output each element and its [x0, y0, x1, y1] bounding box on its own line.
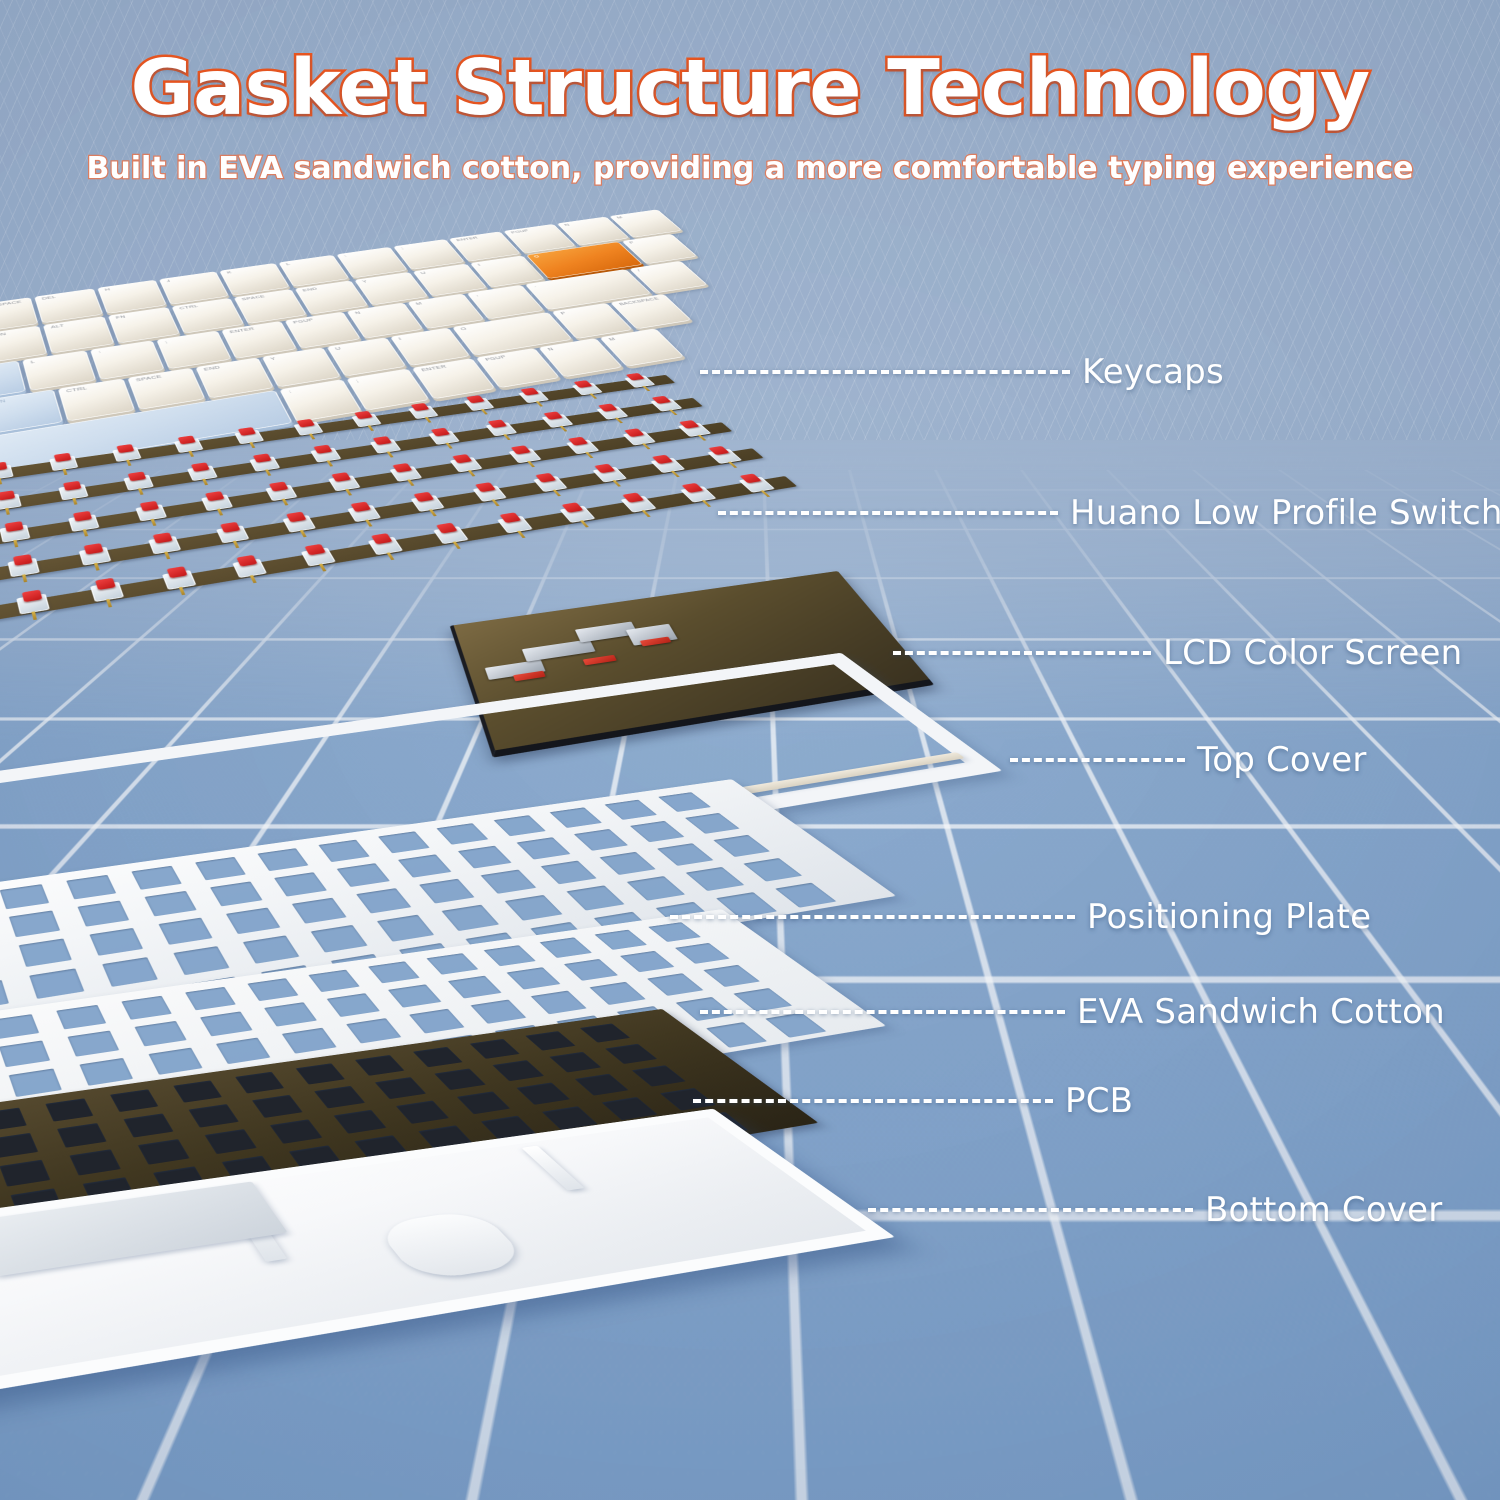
- plate-hole: [703, 965, 760, 987]
- plate-hole: [355, 1055, 405, 1076]
- low-profile-switch: [370, 439, 402, 454]
- keycap-legend: PGUP: [292, 318, 314, 324]
- low-profile-switch: [49, 456, 78, 471]
- low-profile-switch: [234, 430, 264, 444]
- callout-label: Huano Low Profile Switch: [1070, 493, 1500, 533]
- plate-hole: [296, 1063, 345, 1084]
- low-profile-switch: [622, 431, 656, 445]
- low-profile-switch: [533, 476, 568, 492]
- plate-hole: [484, 945, 536, 966]
- low-profile-switch: [541, 414, 573, 428]
- plate-hole: [564, 959, 618, 981]
- low-profile-switch: [566, 440, 599, 455]
- low-profile-switch: [464, 398, 495, 411]
- keycap-legend: Y: [362, 280, 369, 284]
- low-profile-switch: [592, 467, 627, 483]
- plate-hole: [470, 1039, 520, 1059]
- keycap-legend: N: [354, 311, 361, 315]
- keycap-legend: K: [226, 271, 232, 275]
- low-profile-switch: [572, 383, 603, 396]
- layer-bottom-cover: [0, 1090, 1060, 1500]
- plate-hole: [541, 861, 597, 885]
- plate-hole: [66, 875, 116, 900]
- keycap-legend: N: [564, 224, 571, 227]
- header: Gasket Structure Technology Built in EVA…: [0, 0, 1500, 186]
- callout-switch: Huano Low Profile Switch: [718, 493, 1500, 533]
- callout-keycaps: Keycaps: [700, 352, 1224, 392]
- keycap: ;: [393, 239, 465, 270]
- plate-hole: [436, 823, 488, 845]
- callout-label: Top Cover: [1197, 740, 1367, 780]
- plate-hole: [131, 866, 181, 890]
- keycap-grid: YUIOPBACKSPACEDELHJKL:;ENTERPGUPNM,./SHI…: [0, 190, 794, 354]
- plate-hole: [604, 800, 657, 820]
- keycap: O: [526, 242, 643, 279]
- plate-hole: [620, 951, 675, 972]
- plate-hole: [605, 1044, 657, 1064]
- keycap: M: [407, 294, 484, 329]
- plate-hole: [506, 967, 560, 989]
- keycap: N: [557, 217, 630, 246]
- keycap: SPACE: [234, 289, 307, 324]
- plate-hole: [458, 846, 512, 869]
- keycap: M: [609, 209, 682, 237]
- keycap: Y: [354, 272, 428, 305]
- callout-eva: EVA Sandwich Cotton: [700, 992, 1445, 1032]
- keycap-legend: ,: [474, 294, 479, 297]
- plate-hole: [675, 943, 730, 964]
- low-profile-switch: [428, 430, 460, 444]
- low-profile-switch: [249, 456, 280, 471]
- callout-leader-line: [700, 370, 1070, 374]
- keycap: :: [336, 247, 408, 278]
- plate-hole: [318, 840, 370, 862]
- plate-hole: [368, 961, 420, 983]
- low-profile-switch: [650, 458, 685, 473]
- low-profile-switch: [678, 423, 712, 437]
- keycap-legend: ALT: [50, 324, 64, 329]
- plate-hole: [434, 1068, 486, 1090]
- callout-top-cover: Top Cover: [1010, 740, 1367, 780]
- low-profile-switch: [624, 375, 655, 387]
- keycap-legend: H: [105, 288, 111, 292]
- callout-bottom-cover: Bottom Cover: [868, 1190, 1442, 1230]
- low-profile-switch: [408, 406, 439, 419]
- keycap-legend: CTRL: [179, 305, 199, 311]
- plate-hole: [594, 930, 647, 950]
- low-profile-switch: [187, 465, 218, 481]
- callout-leader-line: [718, 511, 1058, 515]
- bottom-cover-post: [222, 1192, 287, 1262]
- keycap: I: [470, 255, 545, 287]
- keycap: BACKSPACE: [0, 297, 38, 333]
- keycap: /: [629, 261, 708, 293]
- low-profile-switch: [351, 414, 381, 428]
- plate-hole: [686, 867, 745, 891]
- low-profile-switch: [293, 422, 323, 436]
- callout-leader-line: [670, 915, 1075, 919]
- low-profile-switch: [450, 457, 483, 472]
- keycap-legend: ;: [400, 247, 404, 250]
- keycap-legend: DEL: [42, 296, 57, 301]
- plate-hole: [308, 970, 360, 992]
- low-profile-switch: [0, 465, 14, 481]
- callout-label: PCB: [1065, 1081, 1133, 1121]
- bottom-cover-post: [521, 1146, 584, 1191]
- keycap: ENTER: [449, 231, 521, 261]
- callout-label: Keycaps: [1082, 352, 1224, 392]
- page-title: Gasket Structure Technology: [0, 44, 1500, 133]
- plate-hole: [599, 852, 656, 875]
- keycap-legend: M: [616, 216, 624, 219]
- callout-label: Bottom Cover: [1205, 1190, 1442, 1230]
- plate-hole: [525, 1031, 575, 1051]
- plate-hole: [550, 807, 603, 828]
- plate-hole: [398, 854, 452, 877]
- keycap: PGUP: [503, 224, 576, 253]
- keycap-legend: P: [629, 241, 636, 244]
- keycap: BACKSPACE: [610, 294, 692, 329]
- keycap-legend: M: [415, 302, 423, 306]
- low-profile-switch: [485, 422, 517, 436]
- keycap-legend: O: [460, 327, 468, 331]
- keycap-legend: :: [344, 255, 348, 258]
- plate-hole: [574, 829, 628, 851]
- callout-leader-line: [868, 1208, 1193, 1212]
- low-profile-switch: [707, 449, 742, 464]
- keycap-legend: END: [302, 287, 318, 292]
- callout-label: Positioning Plate: [1087, 897, 1371, 937]
- bottom-cover-shell: [0, 1109, 895, 1476]
- low-profile-switch: [508, 448, 541, 463]
- low-profile-switch: [650, 398, 682, 411]
- callout-leader-line: [893, 651, 1151, 655]
- keycap-legend: P: [560, 312, 567, 316]
- plate-hole: [658, 792, 711, 812]
- plate-hole: [247, 978, 298, 1001]
- keycap: .: [525, 269, 652, 310]
- keycap-legend: I: [477, 264, 481, 267]
- low-profile-switch: [112, 447, 141, 462]
- keycap: ,: [467, 285, 545, 319]
- keycap-legend: U: [420, 272, 427, 276]
- keycap-legend: /: [637, 269, 642, 272]
- keycap: END: [295, 280, 369, 314]
- low-profile-switch: [174, 438, 204, 453]
- keycap-legend: BACKSPACE: [618, 297, 660, 306]
- plate-hole: [195, 857, 246, 880]
- plate-hole: [632, 1065, 686, 1086]
- plate-hole: [413, 1047, 463, 1067]
- plate-hole: [647, 973, 704, 996]
- keycap-legend: PGDN: [0, 332, 7, 339]
- plate-hole: [657, 843, 714, 866]
- keycap: H: [97, 280, 167, 314]
- plate-hole: [580, 1023, 631, 1042]
- keycap: CTRL: [171, 298, 244, 334]
- low-profile-switch: [123, 475, 153, 491]
- low-profile-switch: [328, 475, 361, 491]
- plate-hole: [713, 835, 770, 857]
- keycap: L: [278, 255, 349, 287]
- switch-grid: [0, 350, 794, 514]
- plate-hole: [480, 870, 536, 894]
- keycap-legend: ENTER: [229, 327, 255, 334]
- plate-hole: [426, 953, 478, 975]
- plate-hole: [516, 837, 570, 859]
- callout-label: LCD Color Screen: [1163, 633, 1462, 673]
- keycap-legend: O: [533, 255, 541, 259]
- plate-hole: [274, 872, 327, 896]
- keycap-legend: FN: [115, 315, 126, 320]
- keycap-legend: J: [166, 280, 171, 283]
- page-subtitle: Built in EVA sandwich cotton, providing …: [0, 151, 1500, 186]
- plate-hole: [492, 1060, 544, 1081]
- callout-pcb: PCB: [693, 1081, 1133, 1121]
- plate-hole: [743, 858, 802, 882]
- keycap-legend: .: [533, 285, 538, 288]
- callout-leader-line: [700, 1010, 1065, 1014]
- infographic-stage: Gasket Structure Technology Built in EVA…: [0, 0, 1500, 1500]
- callout-leader-line: [693, 1099, 1053, 1103]
- keycap: DEL: [34, 288, 103, 323]
- keycap-legend: L: [286, 263, 292, 266]
- keycap-legend: ENTER: [456, 236, 479, 242]
- callout-label: EVA Sandwich Cotton: [1077, 992, 1445, 1032]
- callout-lcd: LCD Color Screen: [893, 633, 1462, 673]
- keycap-legend: BACKSPACE: [0, 300, 22, 309]
- low-profile-switch: [310, 448, 341, 463]
- callout-positioning: Positioning Plate: [670, 897, 1371, 937]
- keycap: J: [159, 271, 229, 304]
- keycap: K: [219, 263, 290, 296]
- keycap-legend: SPACE: [241, 295, 266, 301]
- keycap: U: [413, 264, 488, 297]
- plate-hole: [257, 848, 308, 871]
- plate-hole: [540, 937, 593, 958]
- plate-hole: [549, 1052, 601, 1073]
- plate-hole: [630, 821, 685, 842]
- plate-hole: [494, 815, 546, 836]
- plate-hole: [448, 976, 502, 999]
- keycap: P: [621, 234, 697, 264]
- plate-hole: [685, 813, 740, 834]
- low-profile-switch: [389, 466, 422, 482]
- low-profile-switch: [518, 390, 549, 403]
- callout-leader-line: [1010, 758, 1185, 762]
- low-profile-switch: [596, 406, 628, 419]
- keycap-legend: PGUP: [510, 229, 530, 234]
- plate-hole: [378, 831, 430, 853]
- plate-hole: [337, 863, 390, 887]
